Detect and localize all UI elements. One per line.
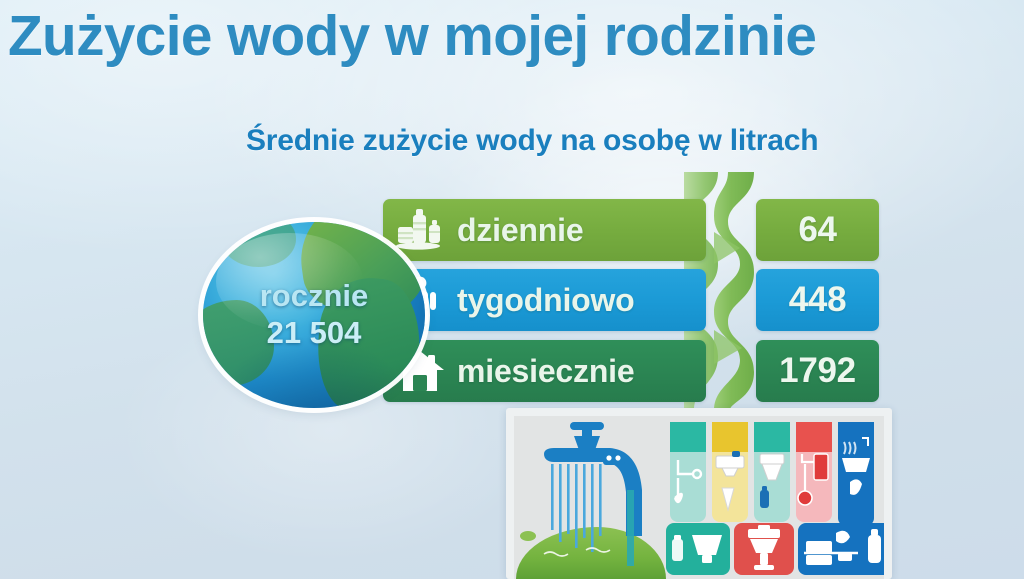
usage-row-weekly: tygodniowo 448: [383, 269, 879, 331]
label-bar-daily[interactable]: dziennie: [383, 199, 706, 261]
globe-value: 21 504: [267, 315, 362, 352]
bathtub-icon: [838, 432, 874, 512]
label-daily: dziennie: [457, 212, 583, 249]
bathroom-icon-columns: [666, 416, 884, 579]
column-shower-header: [670, 422, 706, 452]
illustration-inner: [514, 416, 884, 579]
page-title: Zużycie wody w mojej rodzinie: [8, 6, 1011, 68]
column-toilet: [754, 422, 790, 522]
value-weekly: 448: [789, 280, 847, 320]
usage-row-daily: dziennie 64: [383, 199, 879, 261]
value-monthly: 1792: [779, 351, 856, 391]
value-box-daily[interactable]: 64: [756, 199, 879, 261]
usage-rows: dziennie 64: [383, 199, 879, 404]
infographic-canvas: Zużycie wody w mojej rodzinie Średnie zu…: [0, 0, 1024, 579]
column-sink: [712, 422, 748, 522]
laundry-soap-icon: [798, 523, 884, 575]
label-weekly: tygodniowo: [457, 282, 635, 319]
faucet-scene: [514, 416, 666, 579]
water-usage-bathroom-illustration: [506, 408, 892, 579]
faucet-tap-icon: [514, 416, 666, 571]
toilet-icon: [754, 448, 790, 518]
shower-head-icon: [670, 452, 706, 522]
label-monthly: miesiecznie: [457, 353, 634, 390]
value-box-weekly[interactable]: 448: [756, 269, 879, 331]
column-cleaning: [796, 422, 832, 522]
globe-earth-icon: rocznie 21 504: [203, 222, 425, 408]
value-box-monthly[interactable]: 1792: [756, 340, 879, 402]
bathroom-sink-icon: [712, 448, 748, 518]
label-bar-monthly[interactable]: miesiecznie: [383, 340, 706, 402]
block-washbasin: [734, 523, 794, 575]
toilet-bowl-icon: [666, 523, 730, 575]
washbasin-icon: [734, 523, 794, 575]
globe-period-label: rocznie: [260, 278, 369, 315]
label-bar-weekly[interactable]: tygodniowo: [383, 269, 706, 331]
value-daily: 64: [798, 210, 836, 250]
page-subtitle: Średnie zużycie wody na osobę w litrach: [246, 124, 818, 158]
column-bath: [838, 422, 874, 526]
globe-text-group: rocznie 21 504: [203, 222, 425, 408]
block-toilet-bowl: [666, 523, 730, 575]
mop-bucket-icon: [796, 448, 832, 522]
block-laundry: [798, 523, 884, 575]
usage-row-monthly: miesiecznie 1792: [383, 340, 879, 402]
column-shower: [670, 422, 706, 522]
